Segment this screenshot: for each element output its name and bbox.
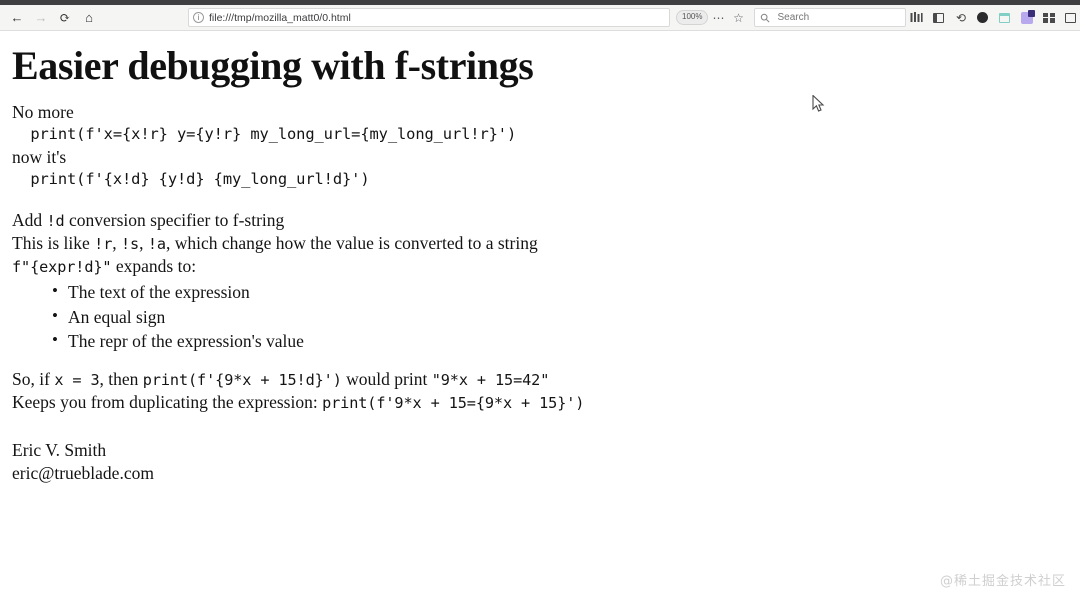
sync-icon[interactable]: ⟲ bbox=[950, 8, 971, 28]
example-p1: So, if bbox=[12, 369, 54, 389]
example-paragraph: So, if x = 3, then print(f'{9*x + 15!d}'… bbox=[12, 368, 1066, 391]
author-name: Eric V. Smith bbox=[12, 439, 1066, 462]
like-p2: , bbox=[112, 233, 121, 253]
search-input[interactable] bbox=[775, 11, 895, 24]
like-c3: !a bbox=[148, 235, 166, 253]
forward-arrow-icon: → bbox=[35, 11, 48, 24]
home-icon: ⌂ bbox=[85, 11, 93, 24]
like-p1: This is like bbox=[12, 233, 94, 253]
account-glyph-icon bbox=[977, 12, 988, 23]
sidebar-icon[interactable] bbox=[928, 8, 949, 28]
keeps-c1: print(f'9*x + 15={9*x + 15}') bbox=[322, 394, 584, 412]
address-bar-url: file:///tmp/mozilla_matt0/0.html bbox=[209, 12, 351, 24]
page-info-icon[interactable]: i bbox=[193, 12, 204, 23]
account-icon[interactable] bbox=[972, 8, 993, 28]
back-button[interactable]: ← bbox=[6, 8, 28, 28]
document-body: Easier debugging with f-strings No more … bbox=[12, 44, 1066, 485]
new-code-line: print(f'{x!d} {y!d} {my_long_url!d}') bbox=[12, 169, 1066, 191]
zoom-level-badge[interactable]: 100% bbox=[676, 10, 708, 24]
screenshot-icon[interactable] bbox=[994, 8, 1015, 28]
now-its-label: now it's bbox=[12, 146, 1066, 169]
library-glyph-icon bbox=[910, 12, 923, 23]
no-more-block: No more print(f'x={x!r} y={y!r} my_long_… bbox=[12, 101, 1066, 190]
expands-code: f"{expr!d}" bbox=[12, 258, 111, 276]
keeps-you-paragraph: Keeps you from duplicating the expressio… bbox=[12, 391, 1066, 414]
apps-grid-glyph-icon bbox=[1043, 13, 1055, 23]
author-signature: Eric V. Smith eric@trueblade.com bbox=[12, 439, 1066, 485]
expands-to-paragraph: f"{expr!d}" expands to: bbox=[12, 255, 1066, 278]
like-p3: , bbox=[139, 233, 148, 253]
screenshot-glyph-icon bbox=[999, 13, 1010, 23]
no-more-label: No more bbox=[12, 101, 1066, 124]
example-p3: would print bbox=[342, 369, 432, 389]
old-code-text: print(f'x={x!r} y={y!r} my_long_url={my_… bbox=[30, 125, 516, 143]
library-icon[interactable] bbox=[906, 8, 927, 28]
expands-suffix: expands to: bbox=[111, 256, 196, 276]
author-email: eric@trueblade.com bbox=[12, 462, 1066, 485]
add-specifier-paragraph: Add !d conversion specifier to f-string bbox=[12, 209, 1066, 232]
reload-button[interactable]: ⟳ bbox=[54, 8, 76, 28]
back-arrow-icon: ← bbox=[11, 11, 24, 24]
sync-glyph-icon: ⟲ bbox=[956, 12, 966, 24]
apps-grid-icon[interactable] bbox=[1038, 8, 1059, 28]
star-icon: ☆ bbox=[733, 12, 744, 24]
list-item: An equal sign bbox=[68, 305, 1066, 330]
list-item: The repr of the expression's value bbox=[68, 329, 1066, 354]
search-bar[interactable] bbox=[754, 8, 906, 27]
navigation-toolbar: ← → ⟳ ⌂ i file:///tmp/mozilla_matt0/0.ht… bbox=[0, 5, 1080, 31]
address-bar[interactable]: i file:///tmp/mozilla_matt0/0.html bbox=[188, 8, 670, 27]
page-title: Easier debugging with f-strings bbox=[12, 44, 1066, 87]
forward-button[interactable]: → bbox=[30, 8, 52, 28]
list-item: The text of the expression bbox=[68, 280, 1066, 305]
bookmark-button[interactable]: ☆ bbox=[728, 8, 748, 28]
reload-icon: ⟳ bbox=[60, 11, 71, 24]
expansion-bullet-list: The text of the expression An equal sign… bbox=[12, 280, 1066, 355]
like-p4: , which change how the value is converte… bbox=[166, 233, 538, 253]
navigation-buttons: ← → ⟳ ⌂ bbox=[6, 8, 100, 28]
old-code-line: print(f'x={x!r} y={y!r} my_long_url={my_… bbox=[12, 124, 1066, 146]
browser-window: ← → ⟳ ⌂ i file:///tmp/mozilla_matt0/0.ht… bbox=[0, 0, 1080, 601]
ellipsis-icon: ⋯ bbox=[712, 12, 724, 24]
home-button[interactable]: ⌂ bbox=[78, 8, 100, 28]
this-is-like-paragraph: This is like !r, !s, !a, which change ho… bbox=[12, 232, 1066, 255]
add-prefix: Add bbox=[12, 210, 47, 230]
example-p2: , then bbox=[100, 369, 143, 389]
add-suffix: conversion specifier to f-string bbox=[65, 210, 285, 230]
page-content: Easier debugging with f-strings No more … bbox=[0, 32, 1080, 601]
watermark: @稀土掘金技术社区 bbox=[940, 570, 1066, 589]
new-code-text: print(f'{x!d} {y!d} {my_long_url!d}') bbox=[30, 170, 369, 188]
container-tabs-icon[interactable] bbox=[1060, 8, 1080, 28]
keeps-p1: Keeps you from duplicating the expressio… bbox=[12, 392, 322, 412]
container-tabs-glyph-icon bbox=[1065, 13, 1076, 23]
like-c1: !r bbox=[94, 235, 112, 253]
example-c2: print(f'{9*x + 15!d}') bbox=[143, 371, 342, 389]
add-code: !d bbox=[47, 212, 65, 230]
page-actions-button[interactable]: ⋯ bbox=[708, 8, 728, 28]
sidebar-glyph-icon bbox=[933, 13, 944, 23]
like-c2: !s bbox=[121, 235, 139, 253]
extension-glyph-icon bbox=[1021, 12, 1033, 24]
example-c1: x = 3 bbox=[54, 371, 99, 389]
example-p4: "9*x + 15=42" bbox=[432, 371, 550, 389]
extension-purple-icon[interactable] bbox=[1016, 8, 1037, 28]
search-icon bbox=[760, 13, 770, 23]
toolbar-right-icons: ⟲ bbox=[906, 8, 1080, 28]
